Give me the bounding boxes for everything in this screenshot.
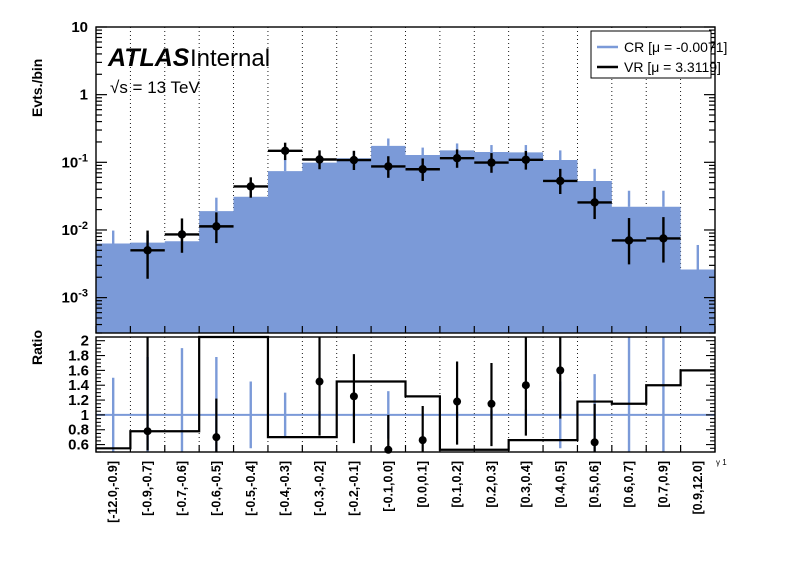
- x-tick-label: [-0.1,0.0]: [381, 461, 395, 512]
- vr-marker: [281, 147, 289, 155]
- vr-marker: [522, 156, 530, 164]
- ratio-y-tick-label: 1.8: [68, 348, 89, 365]
- vr-marker: [384, 162, 392, 170]
- ratio-y-tick-label: 1.6: [68, 362, 89, 379]
- ratio-marker: [522, 381, 530, 389]
- y-axis-title-main: Evts./bin: [29, 59, 45, 117]
- y-tick-label: 1: [80, 87, 88, 104]
- x-tick-label: [-0.3,-0.2]: [313, 461, 327, 516]
- vr-marker: [247, 182, 255, 190]
- ratio-y-tick-label: 1: [81, 407, 89, 424]
- x-tick-label: [0.6,0.7]: [622, 461, 636, 508]
- ratio-marker: [419, 436, 427, 444]
- ratio-y-axis-labels: 0.60.811.21.41.61.82: [68, 333, 90, 454]
- x-tick-label: [0.2,0.3]: [484, 461, 498, 508]
- atlas-label: ATLAS: [107, 44, 190, 72]
- vr-marker: [418, 165, 426, 173]
- ratio-y-tick-label: 0.6: [68, 437, 89, 454]
- x-tick-label: [0.4,0.5]: [553, 461, 567, 508]
- x-tick-label: [-0.7,-0.6]: [175, 461, 189, 516]
- ratio-marker: [556, 366, 564, 374]
- vr-marker: [625, 236, 633, 244]
- x-tick-label: [-0.6,-0.5]: [209, 461, 223, 516]
- legend-label-cr: CR [μ = -0.0071]: [624, 39, 727, 55]
- x-tick-label: [-0.4,-0.3]: [278, 461, 292, 516]
- x-tick-label: [-0.9,-0.7]: [141, 461, 155, 516]
- lumi-label: √s = 13 TeV: [110, 78, 200, 97]
- y-axis-title-ratio: Ratio: [29, 330, 45, 365]
- x-tick-label: [0.0,0.1]: [416, 461, 430, 508]
- ratio-marker: [453, 398, 461, 406]
- vr-marker: [453, 154, 461, 162]
- vr-marker: [556, 177, 564, 185]
- ratio-marker: [144, 427, 152, 435]
- x-tick-label: [-0.5,-0.4]: [244, 461, 258, 516]
- legend-label-vr: VR [μ = 3.3119]: [624, 59, 721, 75]
- physics-plot-svg: 10110-110-210-3 Evts./bin ATLAS Internal…: [0, 0, 796, 572]
- ratio-marker: [212, 433, 220, 441]
- x-tick-label: [-0.2,-0.1]: [347, 461, 361, 516]
- ratio-marker: [350, 392, 358, 400]
- vr-marker: [143, 246, 151, 254]
- vr-marker: [212, 222, 220, 230]
- vr-marker: [659, 234, 667, 242]
- y-tick-label: 10: [71, 19, 88, 36]
- vr-marker: [590, 198, 598, 206]
- ratio-y-tick-label: 1.4: [68, 377, 90, 394]
- ratio-marker: [316, 378, 324, 386]
- x-tick-label: [0.7,0.9]: [656, 461, 670, 508]
- internal-label: Internal: [190, 45, 270, 72]
- ratio-y-tick-label: 0.8: [68, 422, 89, 439]
- vr-marker: [350, 156, 358, 164]
- ratio-marker: [487, 400, 495, 408]
- x-tick-label: [0.5,0.6]: [588, 461, 602, 508]
- x-tick-label: [0.3,0.4]: [519, 461, 533, 508]
- ratio-y-tick-label: 2: [81, 333, 89, 350]
- axis-extra-label: γ 1: [716, 458, 727, 467]
- vr-marker: [315, 155, 323, 163]
- ratio-marker: [591, 438, 599, 446]
- figure-root: 10110-110-210-3 Evts./bin ATLAS Internal…: [0, 0, 796, 572]
- x-tick-label: [0.9,12.0]: [691, 461, 705, 515]
- ratio-y-tick-label: 1.2: [68, 392, 89, 409]
- vr-marker: [487, 158, 495, 166]
- legend[interactable]: CR [μ = -0.0071] VR [μ = 3.3119]: [591, 31, 727, 78]
- x-tick-label: [0.1,0.2]: [450, 461, 464, 508]
- x-tick-label: [-12.0,-0.9]: [106, 461, 120, 523]
- vr-marker: [178, 230, 186, 238]
